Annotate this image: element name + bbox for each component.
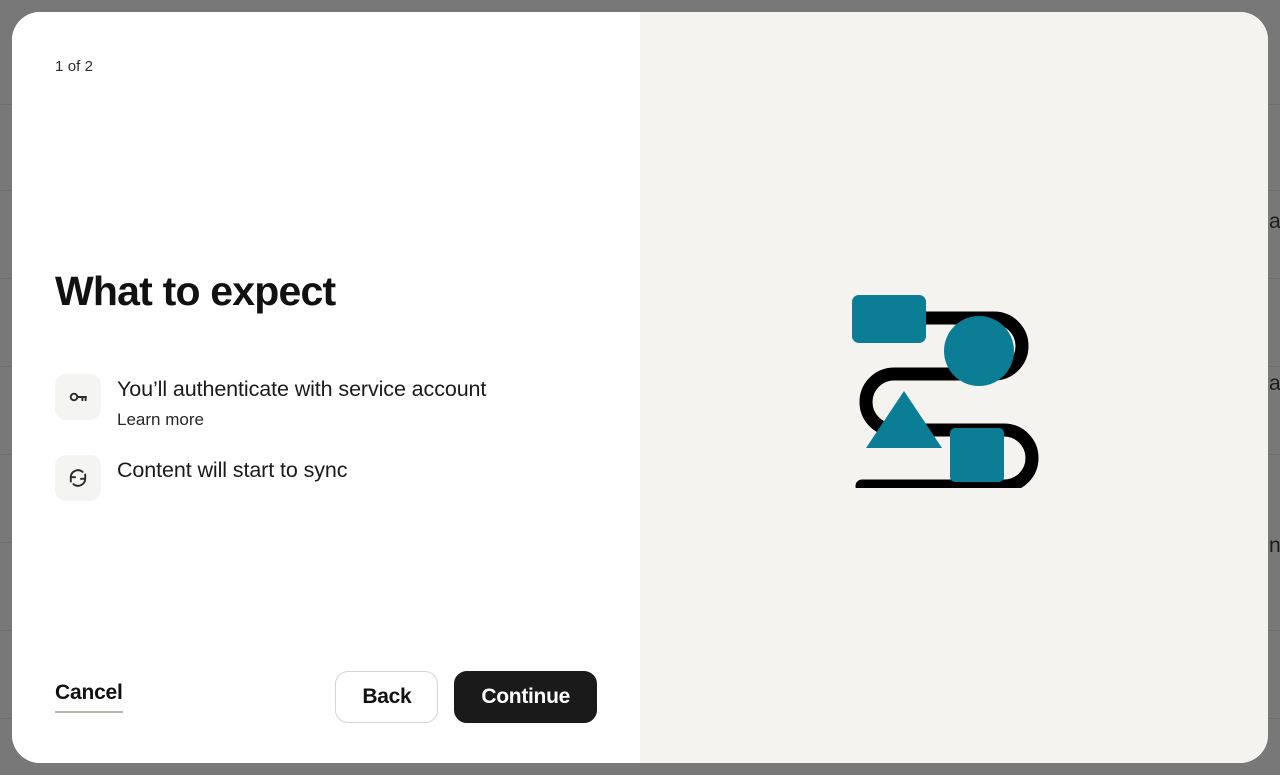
background-text-fragment: a: [1269, 210, 1280, 234]
shape-circle: [944, 316, 1014, 386]
page-title: What to expect: [55, 268, 335, 315]
feature-item-sync: Content will start to sync: [55, 453, 615, 501]
background-text-fragment: a: [1269, 372, 1280, 396]
learn-more-link[interactable]: Learn more: [117, 409, 486, 431]
footer-actions: Back Continue: [335, 671, 597, 723]
background-text-fragment: n: [1269, 534, 1280, 558]
dialog-footer: Cancel Back Continue: [55, 671, 597, 723]
feature-item-authenticate: You’ll authenticate with service account…: [55, 372, 615, 431]
dialog-content-pane: 1 of 2 What to expect You’ll authenticat…: [12, 12, 640, 763]
illustration-pane: [640, 12, 1268, 763]
step-indicator: 1 of 2: [55, 58, 93, 75]
feature-label: Content will start to sync: [117, 456, 347, 485]
feature-list: You’ll authenticate with service account…: [55, 372, 615, 523]
back-button[interactable]: Back: [335, 671, 438, 723]
cancel-button[interactable]: Cancel: [55, 681, 123, 713]
shape-square: [950, 428, 1004, 482]
feature-texts: You’ll authenticate with service account…: [117, 372, 486, 431]
sync-icon: [55, 455, 101, 501]
onboarding-dialog: 1 of 2 What to expect You’ll authenticat…: [12, 12, 1268, 763]
key-icon: [55, 374, 101, 420]
feature-label: You’ll authenticate with service account: [117, 375, 486, 404]
continue-button[interactable]: Continue: [454, 671, 597, 723]
workflow-shapes-illustration: [844, 288, 1064, 488]
shape-rounded-rectangle: [852, 295, 926, 343]
feature-texts: Content will start to sync: [117, 453, 347, 485]
